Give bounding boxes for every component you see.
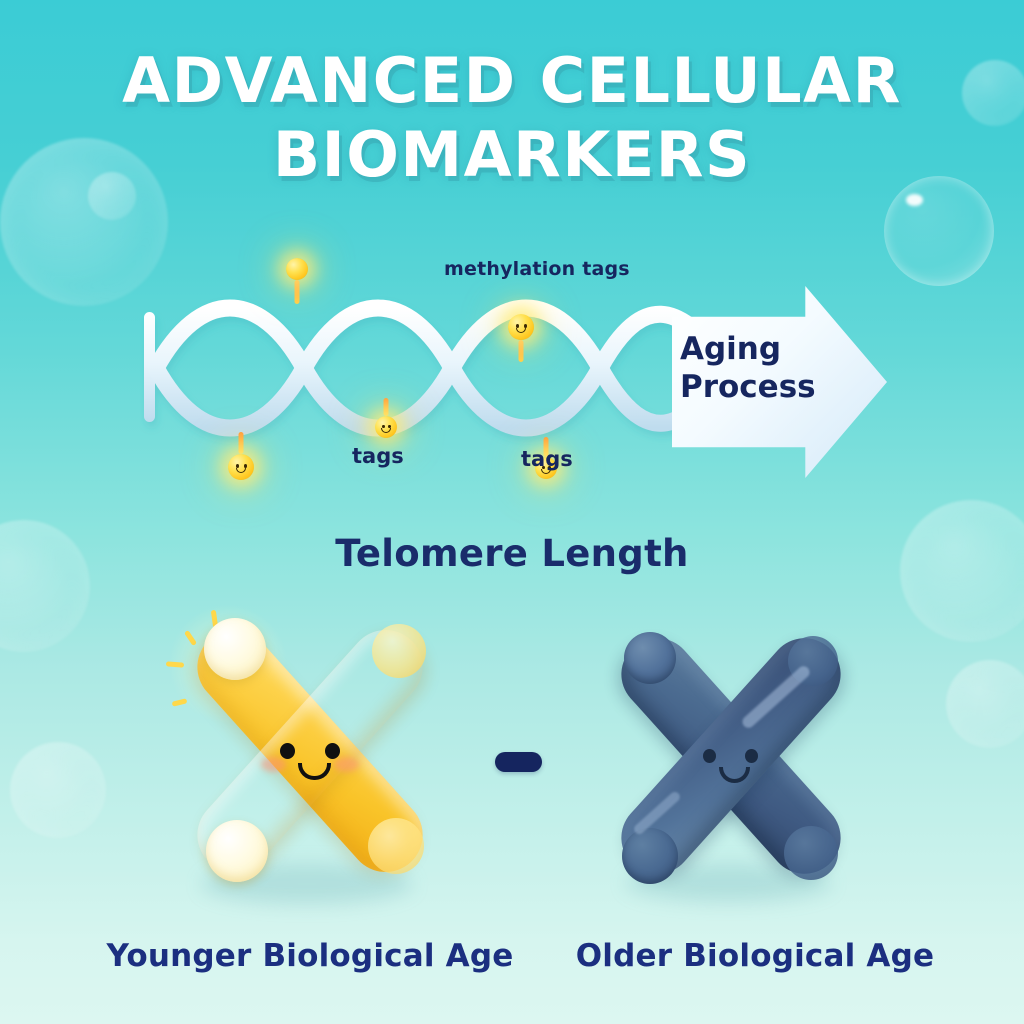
mouth <box>381 428 391 433</box>
dna-helix-illustration <box>140 280 720 480</box>
telomere-cap-old-tl <box>624 632 676 684</box>
tag-face <box>228 454 254 480</box>
telomere-cap-young-br <box>368 818 424 874</box>
cheek-right <box>334 757 359 772</box>
tag-bottom-left <box>228 432 254 480</box>
chromosome-old <box>586 606 876 906</box>
tags-label-right: tags <box>521 447 573 471</box>
bubble-highlight <box>906 194 923 206</box>
title-line-1: ADVANCED CELLULAR <box>122 44 902 117</box>
bubble-right-top <box>884 176 994 286</box>
aging-process-text: Aging Process <box>680 330 830 406</box>
tag-face <box>508 314 534 340</box>
mouth <box>516 328 526 333</box>
aging-process-callout: Aging Process <box>672 286 887 478</box>
cheek-left <box>261 757 286 772</box>
mouth <box>298 763 331 780</box>
tags-label-left: tags <box>352 444 404 468</box>
tag-stem <box>295 280 300 304</box>
bubble-left-low <box>10 742 106 838</box>
title-line-2: BIOMARKERS <box>0 118 1024 192</box>
dna-strands <box>144 308 716 428</box>
mouth <box>719 767 750 783</box>
methylation-tag-icon <box>508 314 534 340</box>
methylation-tag-icon <box>286 258 308 280</box>
younger-biological-age-label: Younger Biological Age <box>60 938 560 974</box>
telomere-length-heading: Telomere Length <box>0 532 1024 575</box>
telomere-cap-old-bl <box>622 828 678 884</box>
tag-mid-left <box>375 398 397 438</box>
infographic-canvas: ADVANCED CELLULAR BIOMARKERS <box>0 0 1024 1024</box>
tag-top-mid <box>508 314 534 362</box>
tag-face <box>375 416 397 438</box>
telomere-cap-young-tr <box>372 624 426 678</box>
methylation-tag-icon <box>228 454 254 480</box>
eye-right <box>325 743 340 759</box>
callout-line-1: Aging <box>680 330 830 368</box>
eye-left <box>280 743 295 759</box>
dna-helix-svg <box>140 280 720 480</box>
bubble-right-low <box>946 660 1024 748</box>
tag-stem <box>384 398 389 416</box>
telomere-cap-young-bl <box>206 820 268 882</box>
tag-top-left <box>286 258 308 304</box>
mouth <box>236 468 246 473</box>
tag-stem <box>239 432 244 454</box>
chromosome-old-face <box>681 741 781 791</box>
chromosome-young <box>160 596 460 906</box>
telomere-cap-old-br <box>784 826 838 880</box>
methylation-tag-icon <box>375 416 397 438</box>
chromosome-young-face <box>255 735 365 791</box>
telomere-cap-young-tl <box>204 618 266 680</box>
eye-right <box>745 749 758 763</box>
eye-left <box>703 749 716 763</box>
tag-stem <box>519 340 524 362</box>
older-biological-age-label: Older Biological Age <box>530 938 980 974</box>
callout-line-2: Process <box>680 368 830 406</box>
comparison-divider-dash <box>495 752 542 772</box>
page-title: ADVANCED CELLULAR BIOMARKERS <box>0 44 1024 192</box>
methylation-tags-label: methylation tags <box>444 258 630 280</box>
